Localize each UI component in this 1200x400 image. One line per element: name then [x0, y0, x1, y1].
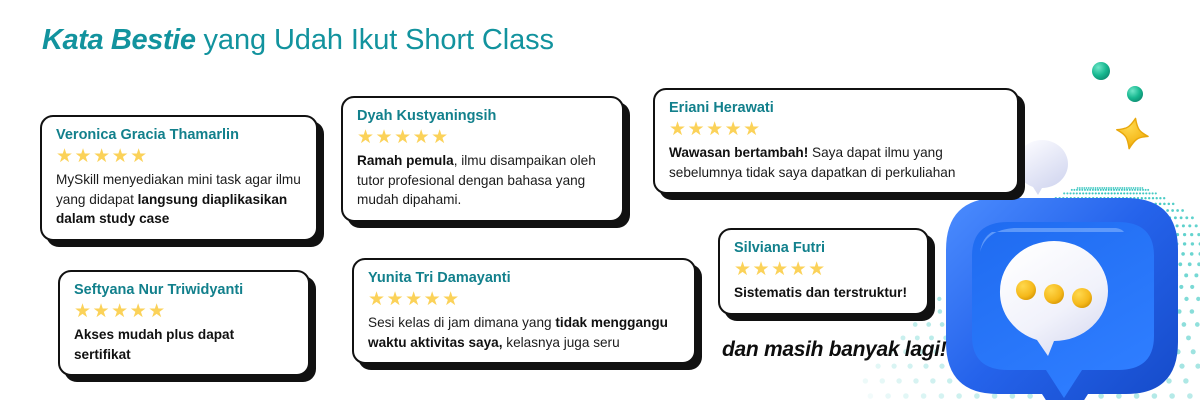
testimonial-banner: Kata Bestie yang Udah Ikut Short Class V… [0, 0, 1200, 400]
testimonial-name: Yunita Tri Damayanti [368, 269, 680, 288]
testimonial-card-seftyana[interactable]: Seftyana Nur Triwidyanti ★★★★★ Akses mud… [58, 270, 310, 376]
yellow-dot [1072, 288, 1092, 308]
testimonial-card-eriani[interactable]: Eriani Herawati ★★★★★ Wawasan bertambah!… [653, 88, 1019, 194]
teal-sphere [1127, 86, 1143, 102]
testimonial-card-silviana[interactable]: Silviana Futri ★★★★★ Sistematis dan ters… [718, 228, 929, 315]
white-speech-bubble-small [1016, 140, 1068, 195]
star-rating-icon: ★★★★★ [56, 147, 302, 166]
testimonial-quote: Ramah pemula, ilmu disampaikan oleh tuto… [357, 151, 608, 210]
testimonial-name: Eriani Herawati [669, 99, 1003, 118]
page-title: Kata Bestie yang Udah Ikut Short Class [42, 22, 554, 58]
testimonial-card-yunita[interactable]: Yunita Tri Damayanti ★★★★★ Sesi kelas di… [352, 258, 696, 364]
testimonial-quote: MySkill menyediakan mini task agar ilmu … [56, 170, 302, 229]
testimonial-name: Seftyana Nur Triwidyanti [74, 281, 294, 300]
star-rating-icon: ★★★★★ [357, 128, 608, 147]
star-rating-icon: ★★★★★ [368, 290, 680, 309]
footer-tagline: dan masih banyak lagi! [722, 338, 946, 362]
testimonial-quote: Sesi kelas di jam dimana yang tidak meng… [368, 313, 680, 352]
testimonial-quote: Sistematis dan terstruktur! [734, 283, 913, 303]
testimonial-name: Silviana Futri [734, 239, 913, 258]
yellow-dot [1016, 280, 1036, 300]
star-rating-icon: ★★★★★ [669, 120, 1003, 139]
page-title-rest: yang Udah Ikut Short Class [196, 24, 554, 56]
testimonial-quote: Wawasan bertambah! Saya dapat ilmu yang … [669, 143, 1003, 182]
testimonial-quote: Akses mudah plus dapat sertifikat [74, 325, 294, 364]
teal-sphere [1092, 62, 1110, 80]
page-title-strong: Kata Bestie [42, 24, 196, 56]
yellow-dot [1044, 284, 1064, 304]
star-rating-icon: ★★★★★ [734, 260, 913, 279]
testimonial-card-dyah[interactable]: Dyah Kustyaningsih ★★★★★ Ramah pemula, i… [341, 96, 624, 222]
testimonial-name: Veronica Gracia Thamarlin [56, 126, 302, 145]
star-rating-icon: ★★★★★ [74, 302, 294, 321]
testimonial-card-veronica[interactable]: Veronica Gracia Thamarlin ★★★★★ MySkill … [40, 115, 318, 241]
testimonial-name: Dyah Kustyaningsih [357, 107, 608, 126]
yellow-star-cross [1113, 115, 1151, 152]
